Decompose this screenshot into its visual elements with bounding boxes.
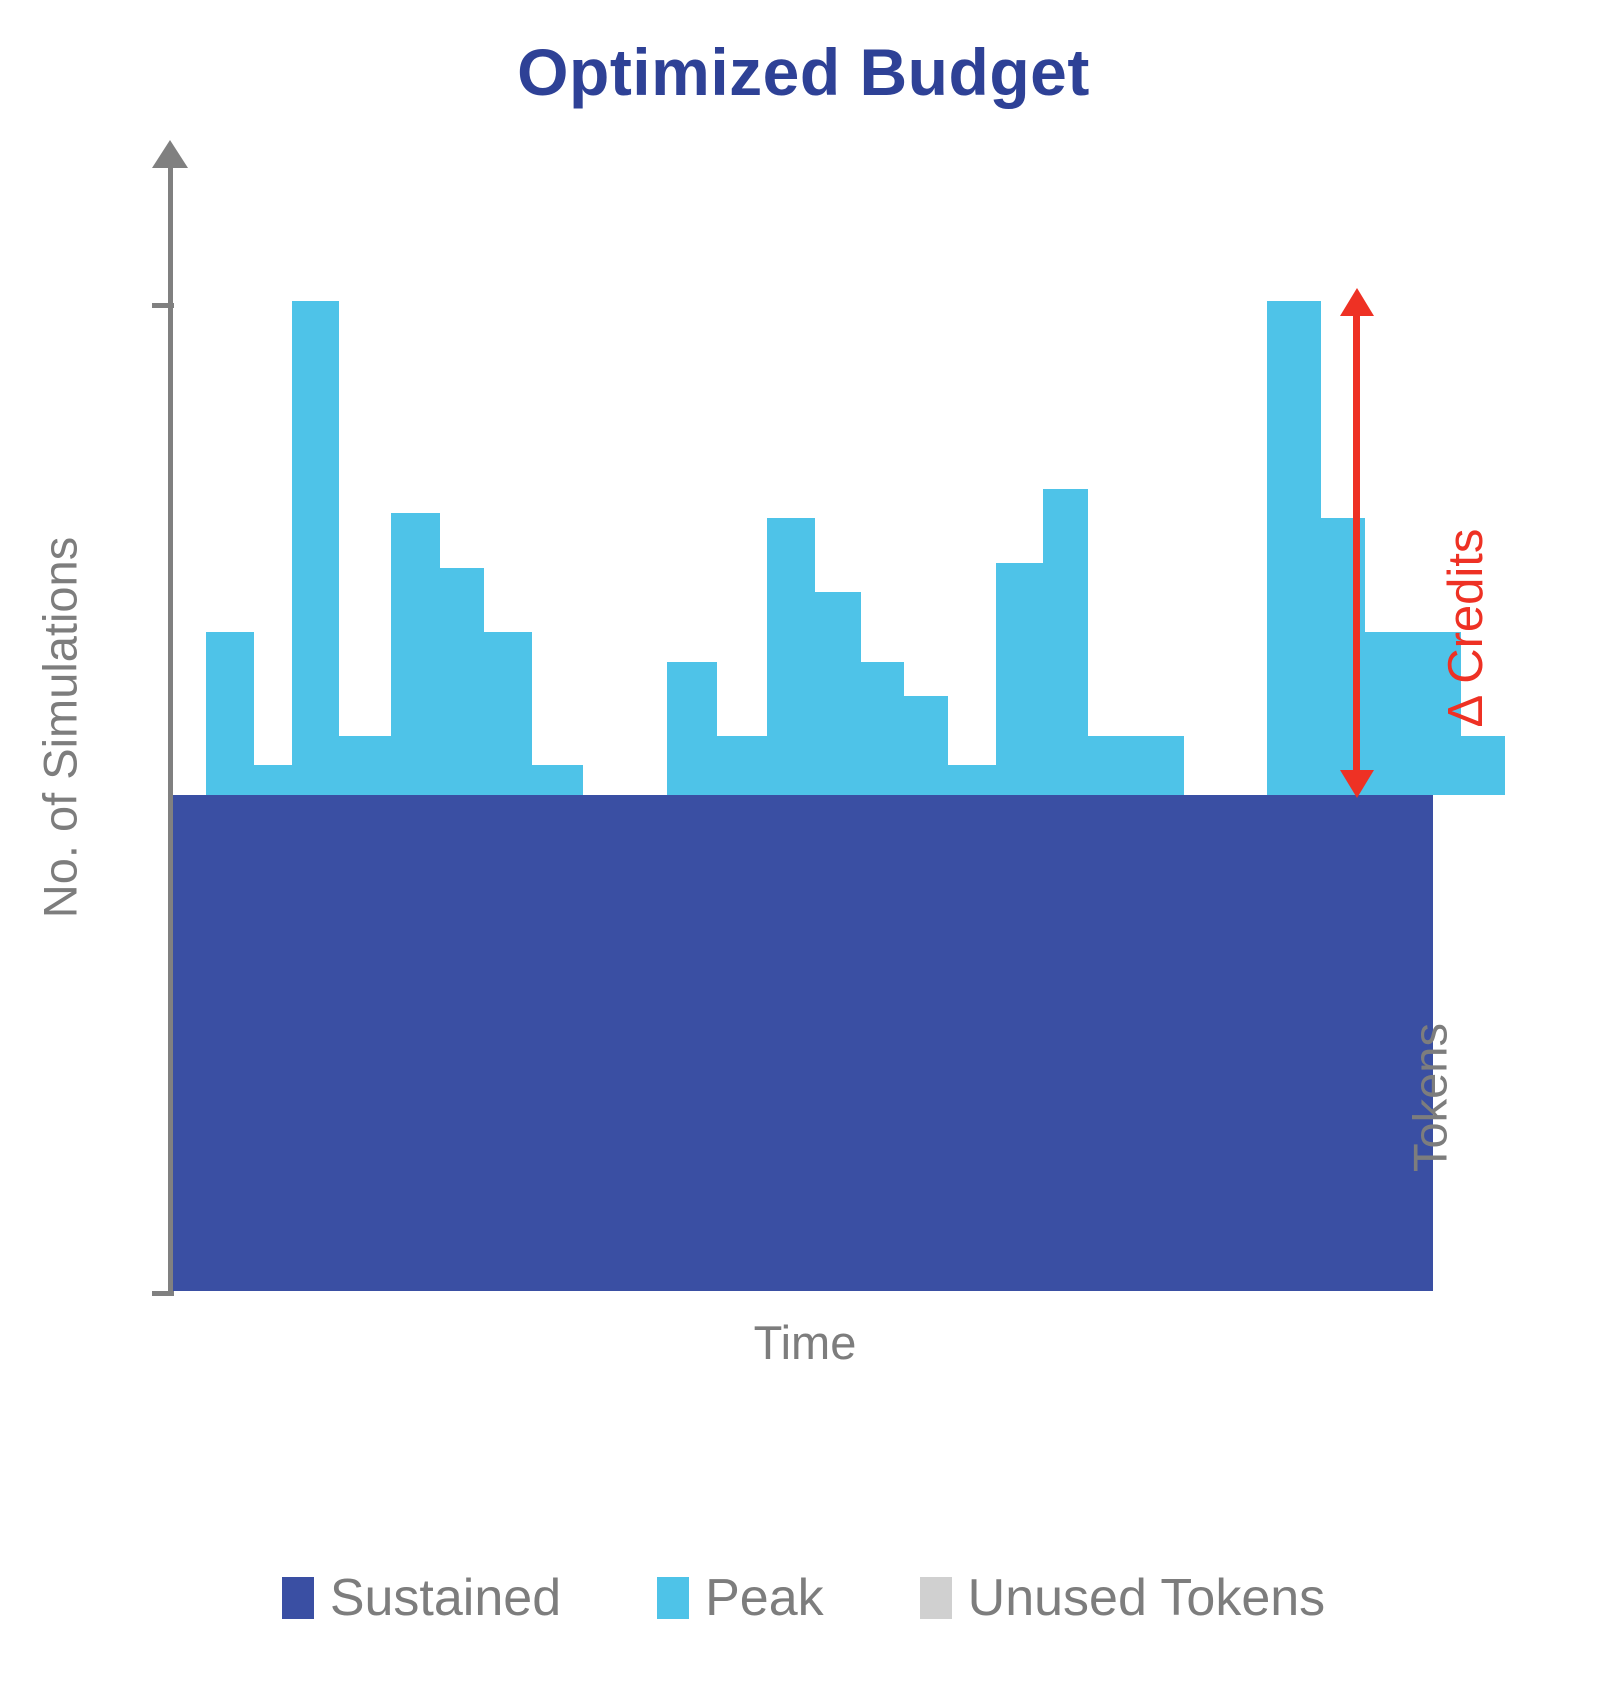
legend-item[interactable]: Unused Tokens — [920, 1568, 1326, 1628]
legend-swatch-icon — [920, 1577, 952, 1619]
delta-credits-label: Δ Credits — [1438, 428, 1494, 828]
peak-bar — [948, 765, 996, 795]
peak-bar — [254, 765, 292, 795]
chart-title: Optimized Budget — [0, 34, 1607, 110]
legend-label: Sustained — [330, 1568, 561, 1628]
peak-bar — [904, 696, 948, 795]
peak-bar — [292, 301, 339, 795]
legend-swatch-icon — [282, 1577, 314, 1619]
peak-bar — [339, 736, 391, 795]
peak-bar — [667, 662, 717, 795]
peak-bar — [1267, 301, 1321, 795]
peak-bar — [484, 632, 532, 795]
legend-swatch-icon — [657, 1577, 689, 1619]
legend-item[interactable]: Peak — [657, 1568, 824, 1628]
peak-bar — [391, 513, 440, 795]
y-axis-tick-lower — [152, 1291, 174, 1296]
x-axis-label: Time — [175, 1315, 1435, 1370]
delta-arrow-line — [1353, 310, 1360, 780]
chart-legend: SustainedPeakUnused Tokens — [0, 1568, 1607, 1628]
peak-bar — [815, 592, 861, 795]
peak-bar — [532, 765, 583, 795]
peak-bar — [440, 568, 484, 795]
sustained-block — [173, 795, 1433, 1291]
peak-bar — [1088, 736, 1136, 795]
peak-bar — [861, 662, 904, 795]
peak-bar — [1136, 736, 1184, 795]
peak-bar — [767, 518, 815, 795]
legend-item[interactable]: Sustained — [282, 1568, 561, 1628]
chart-root: Optimized Budget No. of Simulations Time… — [0, 0, 1607, 1683]
peak-bars-group — [173, 140, 1433, 795]
legend-label: Unused Tokens — [968, 1568, 1326, 1628]
peak-bar — [206, 632, 254, 795]
delta-arrow-head-bottom-icon — [1340, 770, 1374, 798]
peak-bar — [1043, 489, 1088, 795]
legend-label: Peak — [705, 1568, 824, 1628]
right-axis-label-tokens: Tokens — [1403, 938, 1458, 1258]
y-axis-tick-upper — [152, 303, 174, 308]
peak-bar — [996, 563, 1043, 795]
y-axis-label: No. of Simulations — [33, 468, 88, 988]
peak-bar — [717, 736, 767, 795]
